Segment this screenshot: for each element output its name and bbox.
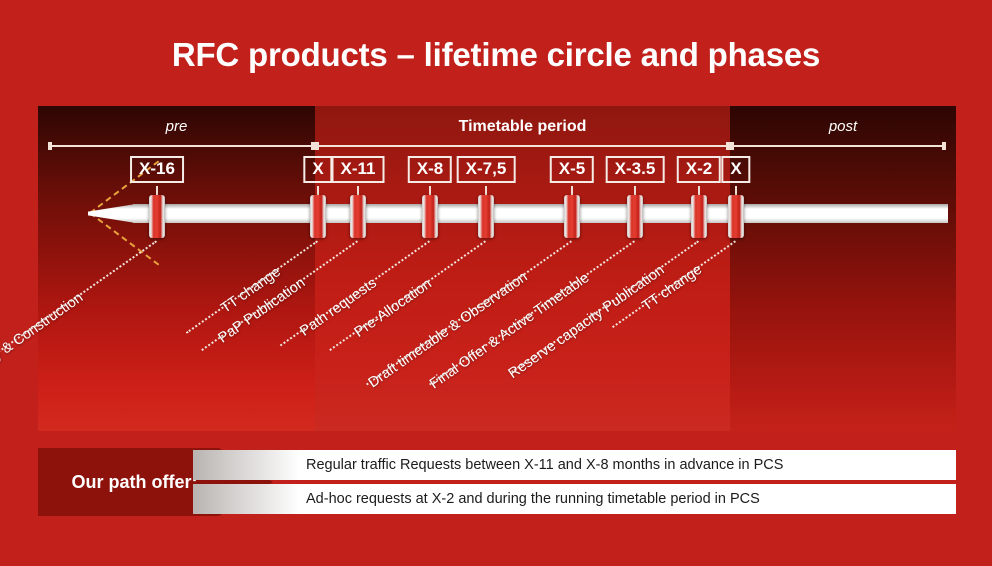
milestone-code: X-8 xyxy=(408,156,452,183)
timeline-track xyxy=(133,204,948,223)
milestone-marker[interactable] xyxy=(627,195,643,238)
phase-label-pre: pre xyxy=(38,118,315,135)
timeline-left-tip xyxy=(88,204,136,223)
milestone-marker[interactable] xyxy=(728,195,744,238)
phase-rule-timetable xyxy=(315,145,730,147)
phase-rule-post xyxy=(730,145,946,147)
phase-label-timetable: Timetable period xyxy=(315,118,730,136)
milestone-marker[interactable] xyxy=(564,195,580,238)
milestone-code: X xyxy=(303,156,332,183)
milestone-marker[interactable] xyxy=(422,195,438,238)
milestone-code: X-7,5 xyxy=(457,156,516,183)
phase-rule-pre xyxy=(48,145,315,147)
milestone-marker[interactable] xyxy=(350,195,366,238)
offer-block: Our path offer: Regular traffic Requests… xyxy=(38,448,956,516)
phase-band-post: post xyxy=(730,106,956,431)
offer-tag-label: Our path offer: xyxy=(72,472,198,493)
page-title: RFC products – lifetime circle and phase… xyxy=(0,36,992,74)
milestone-marker[interactable] xyxy=(310,195,326,238)
timeline-bar xyxy=(88,204,948,223)
offer-row-text: Regular traffic Requests between X-11 an… xyxy=(306,457,783,473)
milestone-marker[interactable] xyxy=(149,195,165,238)
milestone-code: X-5 xyxy=(550,156,594,183)
offer-row-adhoc: Ad-hoc requests at X-2 and during the ru… xyxy=(193,484,956,514)
milestone-marker[interactable] xyxy=(691,195,707,238)
offer-row-text: Ad-hoc requests at X-2 and during the ru… xyxy=(306,491,760,507)
milestone-code: X-11 xyxy=(332,156,385,183)
milestone-code: X xyxy=(721,156,750,183)
milestone-code: X-2 xyxy=(677,156,721,183)
milestone-marker[interactable] xyxy=(478,195,494,238)
lifecycle-diagram: pre Timetable period post X-16 Survey & … xyxy=(38,106,956,431)
milestone-code: X-16 xyxy=(130,156,184,183)
offer-row-regular: Regular traffic Requests between X-11 an… xyxy=(193,450,956,480)
milestone-code: X-3.5 xyxy=(606,156,665,183)
phase-label-post: post xyxy=(730,118,956,135)
